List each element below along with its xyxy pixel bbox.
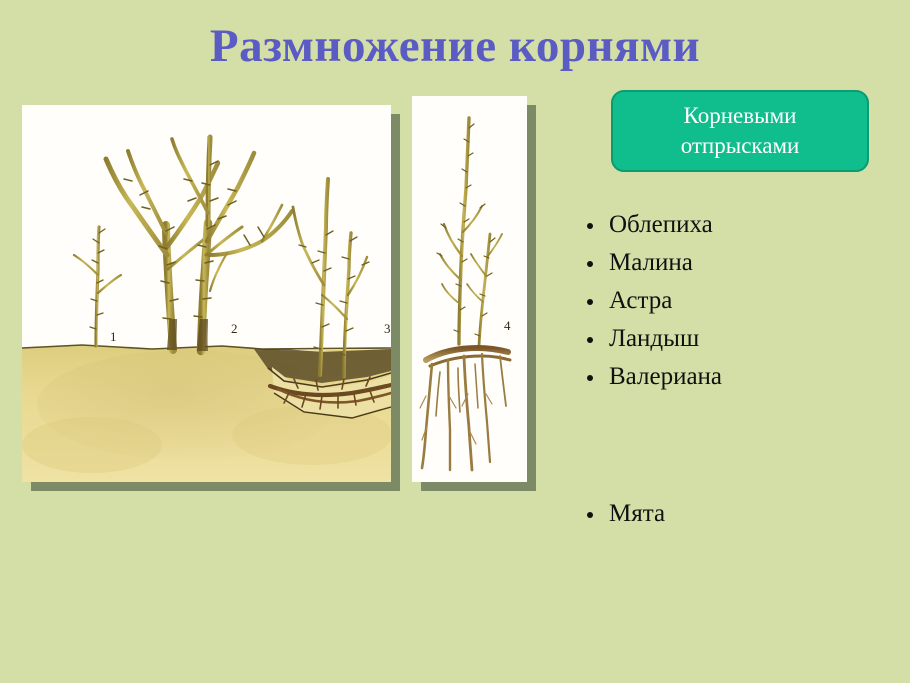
list-item: Валериана [584, 358, 884, 396]
list-item: Облепиха [584, 206, 884, 244]
slide-canvas: Размножение корнями [0, 0, 910, 683]
callout-line-2: отпрысками [681, 131, 800, 161]
extra-plant-list: Мята [584, 495, 884, 533]
separated-sucker-illustration [412, 96, 527, 482]
root-suckers-illustration [22, 105, 391, 482]
callout-line-1: Корневыми [681, 101, 800, 131]
list-item: Малина [584, 244, 884, 282]
figure-root-suckers-in-ground: 1 2 3 [22, 105, 391, 482]
figure-label-4: 4 [504, 318, 511, 334]
list-item: Ландыш [584, 320, 884, 358]
plant-list: Облепиха Малина Астра Ландыш Валериана [584, 206, 884, 396]
page-title: Размножение корнями [0, 22, 910, 71]
figure-label-2: 2 [231, 321, 238, 337]
callout-root-suckers: Корневыми отпрысками [611, 90, 869, 172]
figure-separated-sucker: 4 [412, 96, 527, 482]
figure-label-3: 3 [384, 321, 391, 337]
figure-label-1: 1 [110, 329, 117, 345]
list-item: Астра [584, 282, 884, 320]
list-item: Мята [584, 495, 884, 533]
